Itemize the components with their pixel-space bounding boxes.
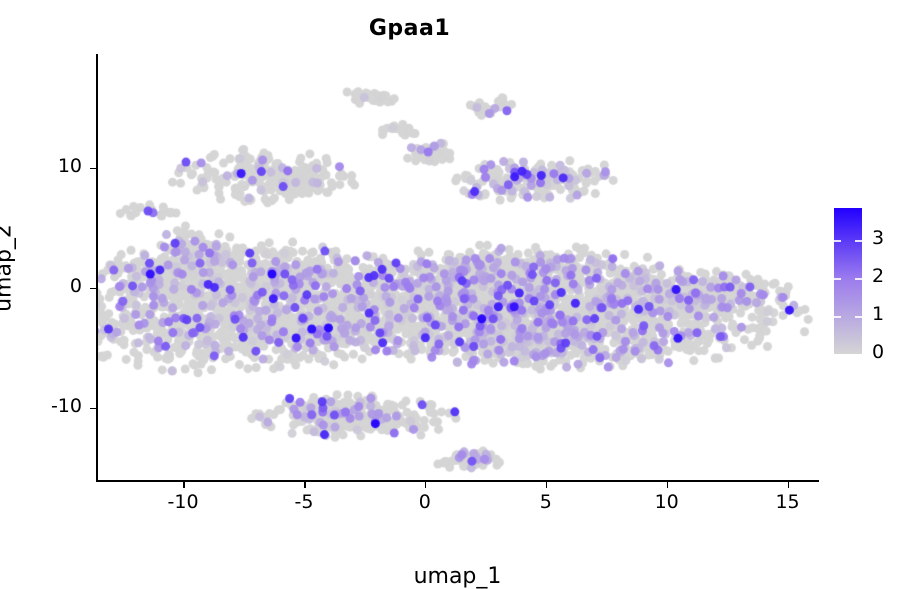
umap-feature-plot: Gpaa1 -10-5051015 100-10 umap_1 umap_2 3…: [0, 0, 911, 562]
colorbar-tick-mark: [834, 240, 841, 242]
x-tick-label: 15: [758, 491, 818, 513]
x-tick-mark: [546, 482, 548, 488]
x-tick-mark: [304, 482, 306, 488]
colorbar-tick-mark: [855, 354, 862, 356]
plot-axes: -10-5051015 100-10 umap_1 umap_2: [96, 54, 819, 482]
page-title: Gpaa1: [0, 16, 819, 41]
x-tick-mark: [425, 482, 427, 488]
colorbar-tick-mark: [855, 278, 862, 280]
x-tick-mark: [183, 482, 185, 488]
colorbar-tick-mark: [855, 316, 862, 318]
colorbar-tick-mark: [834, 354, 841, 356]
x-axis-spine: [96, 480, 819, 482]
colorbar-tick-mark: [855, 240, 862, 242]
y-axis-label: umap_2: [0, 224, 17, 312]
colorbar-tick-mark: [834, 278, 841, 280]
colorbar: 3210: [834, 208, 906, 354]
scatter-plot-canvas: [96, 54, 819, 482]
colorbar-tick-mark: [834, 316, 841, 318]
y-tick-label: -10: [22, 395, 82, 417]
x-tick-label: 10: [637, 491, 697, 513]
x-tick-label: -5: [274, 491, 334, 513]
x-axis-label: umap_1: [96, 564, 819, 589]
colorbar-tick-label: 1: [872, 303, 884, 325]
colorbar-gradient: [834, 208, 862, 354]
colorbar-tick-label: 3: [872, 227, 884, 249]
x-tick-label: -10: [153, 491, 213, 513]
y-tick-mark: [90, 408, 96, 410]
y-tick-mark: [90, 168, 96, 170]
y-axis-spine: [96, 54, 98, 482]
y-tick-mark: [90, 288, 96, 290]
x-tick-label: 5: [516, 491, 576, 513]
colorbar-tick-label: 2: [872, 265, 884, 287]
y-tick-label: 10: [22, 155, 82, 177]
colorbar-tick-label: 0: [872, 341, 884, 363]
y-tick-label: 0: [22, 275, 82, 297]
x-tick-mark: [667, 482, 669, 488]
x-tick-mark: [788, 482, 790, 488]
x-tick-label: 0: [395, 491, 455, 513]
